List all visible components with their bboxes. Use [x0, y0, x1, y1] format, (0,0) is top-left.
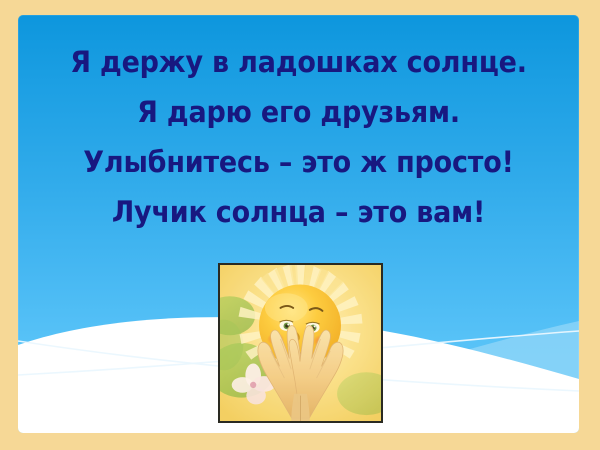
- verse-line-1: Я держу в ладошках солнце.: [38, 37, 560, 87]
- verse-line-4: Лучик солнца – это вам!: [38, 187, 560, 237]
- warm-overlay: [220, 265, 381, 421]
- slide-panel: Я держу в ладошках солнце. Я дарю его др…: [18, 15, 579, 433]
- verse-line-3: Улыбнитесь – это ж просто!: [38, 137, 560, 187]
- sun-illustration: [220, 265, 381, 421]
- sun-in-hands-image: [218, 263, 383, 423]
- verse-block: Я держу в ладошках солнце. Я дарю его др…: [18, 37, 579, 237]
- slide-frame: Я держу в ладошках солнце. Я дарю его др…: [0, 0, 600, 450]
- verse-line-2: Я дарю его друзьям.: [38, 87, 560, 137]
